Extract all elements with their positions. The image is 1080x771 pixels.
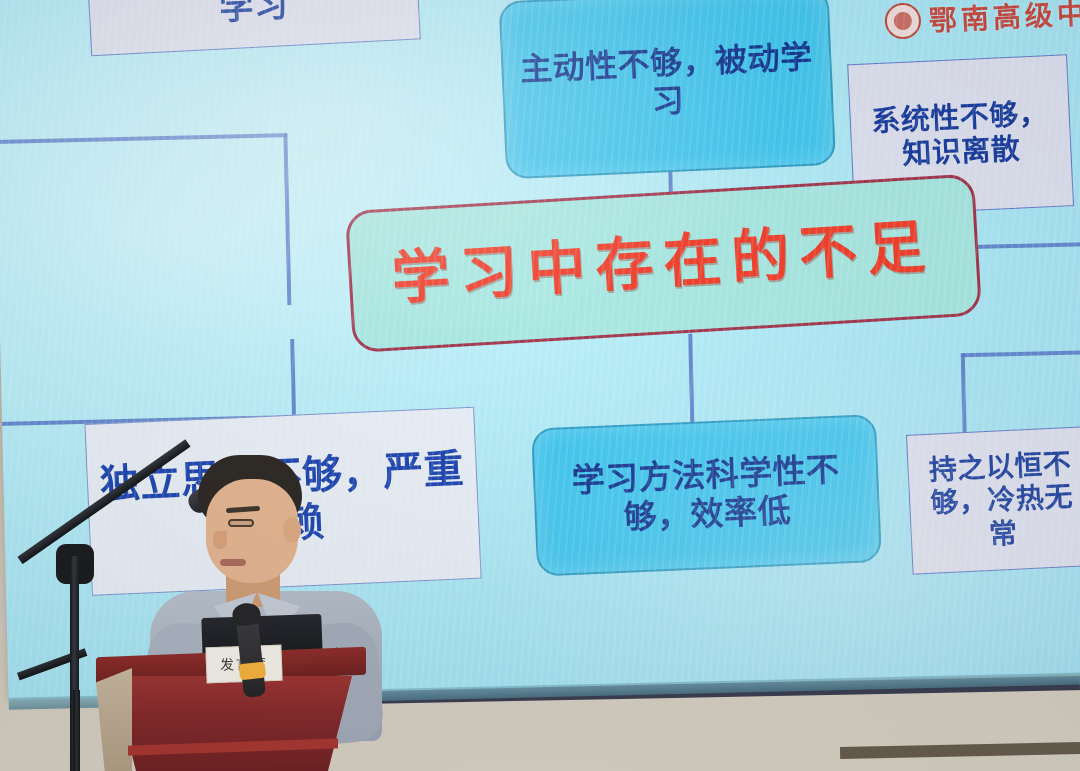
node-top-left: 目标性不够，盲目学习 <box>85 0 421 56</box>
connector-line-top-left-vertical <box>283 133 291 305</box>
mic-stand-lower-pole <box>73 690 80 771</box>
school-branding: 鄂南高级中学 <box>884 0 1080 42</box>
school-name-label: 鄂南高级中学 <box>928 0 1080 40</box>
node-bottom-center: 学习方法科学性不够，效率低 <box>531 414 882 577</box>
handheld-microphone-head <box>231 602 261 627</box>
connector-line-bottom-right-vertical <box>961 353 967 435</box>
node-center-title: 学习中存在的不足 <box>345 173 982 353</box>
screenshot-stage: 目标性不够，盲目学习 主动性不够，被动学习 系统性不够，知识离散 学习中存在的不… <box>0 0 1080 771</box>
speaker-ear <box>283 517 301 543</box>
node-bottom-right: 持之以恒不够，冷热无常 <box>906 426 1080 575</box>
podium-body <box>112 676 352 771</box>
connector-line-bottom-left-vertical <box>290 339 296 419</box>
connector-line-bottom-right-horizontal <box>961 350 1080 357</box>
node-top-center: 主动性不够，被动学习 <box>498 0 836 179</box>
speaker-eye <box>228 519 254 527</box>
speaker-mouth <box>220 559 246 566</box>
school-seal-icon <box>884 2 922 40</box>
connector-line-bottom-center-vertical <box>688 334 694 426</box>
handheld-microphone-band <box>239 662 267 681</box>
connector-line-top-left-horizontal <box>0 133 287 144</box>
speaker-nose <box>213 531 227 549</box>
